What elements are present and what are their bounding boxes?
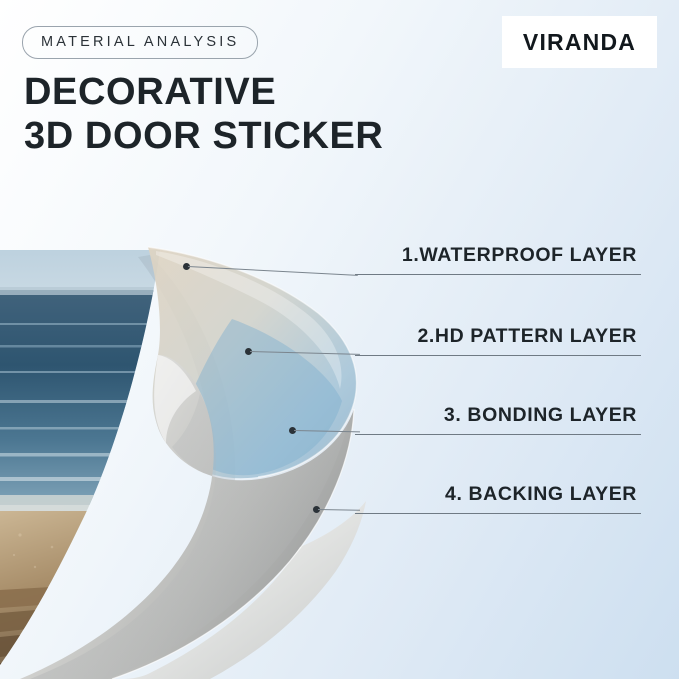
title-line-2: 3D DOOR STICKER (24, 114, 383, 158)
eyebrow-badge: MATERIAL ANALYSIS (22, 26, 258, 59)
layer-label-1: 1.WATERPROOF LAYER (402, 244, 637, 267)
layer-label-3: 3. BONDING LAYER (444, 404, 637, 427)
layer-label-4: 4. BACKING LAYER (445, 483, 637, 506)
layer-rule-4 (355, 513, 641, 514)
layer-rule-2 (355, 355, 641, 356)
poster-canvas: MATERIAL ANALYSIS DECORATIVE 3D DOOR STI… (0, 0, 679, 679)
title-line-1: DECORATIVE (24, 70, 383, 114)
brand-name: VIRANDA (523, 29, 636, 56)
page-title: DECORATIVE 3D DOOR STICKER (24, 70, 383, 158)
layer-rule-1 (355, 274, 641, 275)
layer-label-2: 2.HD PATTERN LAYER (417, 325, 637, 348)
brand-logo-box: VIRANDA (502, 16, 657, 68)
layer-rule-3 (355, 434, 641, 435)
